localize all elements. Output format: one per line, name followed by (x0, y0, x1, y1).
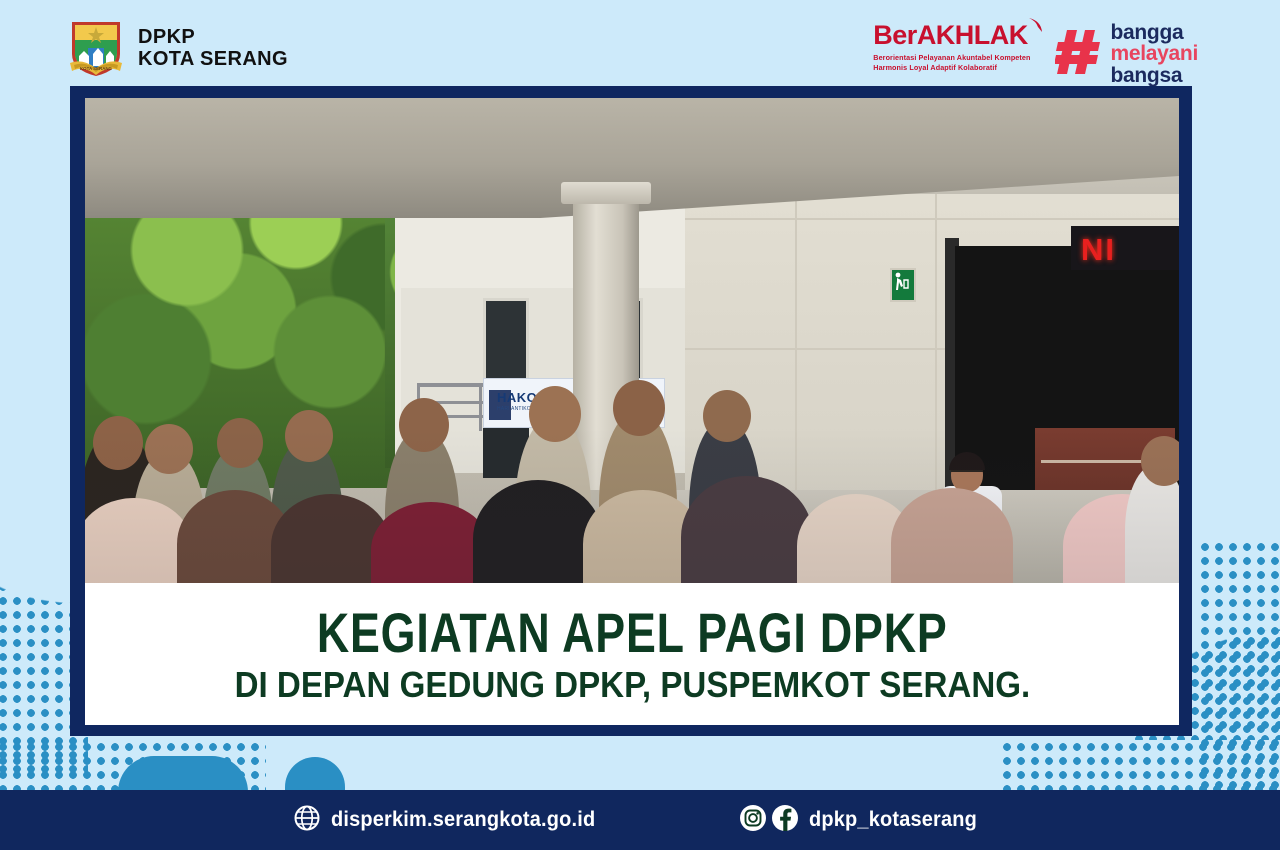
swoosh-icon (1027, 16, 1045, 41)
bangga-line-3: bangsa (1111, 65, 1199, 86)
berakhlak-wordmark: BerAKHLAK (873, 22, 1030, 49)
led-display-text: NI (1081, 232, 1116, 268)
poster-canvas: KOTA SERANG DPKP KOTA SERANG BerAKHLAK (0, 0, 1280, 850)
blue-arc-shape (285, 757, 345, 791)
poster-footer: disperkim.serangkota.go.id (0, 790, 1280, 850)
blue-wave-shape-left (118, 756, 248, 792)
website-url: disperkim.serangkota.go.id (331, 808, 595, 832)
berakhlak-prefix: Ber (873, 20, 917, 50)
social-icons (740, 805, 798, 836)
berakhlak-main: AKHLAK (917, 20, 1028, 50)
poster-header: KOTA SERANG DPKP KOTA SERANG BerAKHLAK (0, 0, 1280, 88)
svg-text:KOTA SERANG: KOTA SERANG (80, 66, 113, 71)
brand-line-2: KOTA SERANG (138, 48, 288, 70)
emergency-exit-sign-icon (890, 268, 916, 302)
title-card: KEGIATAN APEL PAGI DPKP DI DEPAN GEDUNG … (85, 583, 1179, 725)
facebook-icon[interactable] (772, 805, 798, 836)
brand-line-1: DPKP (138, 26, 288, 48)
berakhlak-tagline-line1: Berorientasi Pelayanan Akuntabel Kompete… (873, 53, 1030, 63)
website-link[interactable]: disperkim.serangkota.go.id (294, 805, 609, 836)
building-window (483, 298, 529, 386)
page-title: KEGIATAN APEL PAGI DPKP (317, 605, 948, 661)
globe-icon (294, 805, 320, 836)
kota-serang-coat-of-arms-icon: KOTA SERANG (68, 18, 124, 78)
content-card-frame: HAKORDIA HARI ANTIKORUPSI SEDUNIA 2023 N… (70, 86, 1192, 736)
dot-pattern-bottom-right (1000, 740, 1280, 792)
bangga-line-1: bangga (1111, 22, 1199, 43)
brand-text: DPKP KOTA SERANG (138, 26, 288, 71)
social-handle: dpkp_kotaserang (809, 808, 977, 832)
hashtag-icon (1055, 26, 1103, 83)
bangga-melayani-bangsa-logo: bangga melayani bangsa (1055, 22, 1199, 86)
page-subtitle: DI DEPAN GEDUNG DPKP, PUSPEMKOT SERANG. (234, 667, 1030, 703)
brand-lockup: KOTA SERANG DPKP KOTA SERANG (68, 18, 288, 78)
event-photo: HAKORDIA HARI ANTIKORUPSI SEDUNIA 2023 N… (85, 98, 1179, 588)
berakhlak-logo: BerAKHLAK Berorientasi Pelayanan Akuntab… (873, 22, 1040, 74)
column-capital (561, 182, 651, 204)
crowd-shadow-overlay (85, 428, 1179, 588)
social-handle-group[interactable]: dpkp_kotaserang (740, 805, 986, 836)
berakhlak-bangga-lockup: BerAKHLAK Berorientasi Pelayanan Akuntab… (873, 22, 1198, 86)
berakhlak-tagline-line2: Harmonis Loyal Adaptif Kolaboratif (873, 63, 1030, 73)
bangga-line-2: melayani (1111, 43, 1199, 64)
instagram-icon[interactable] (740, 805, 766, 836)
bangga-wordmark: bangga melayani bangsa (1111, 22, 1199, 86)
berakhlak-tagline: Berorientasi Pelayanan Akuntabel Kompete… (873, 53, 1030, 74)
